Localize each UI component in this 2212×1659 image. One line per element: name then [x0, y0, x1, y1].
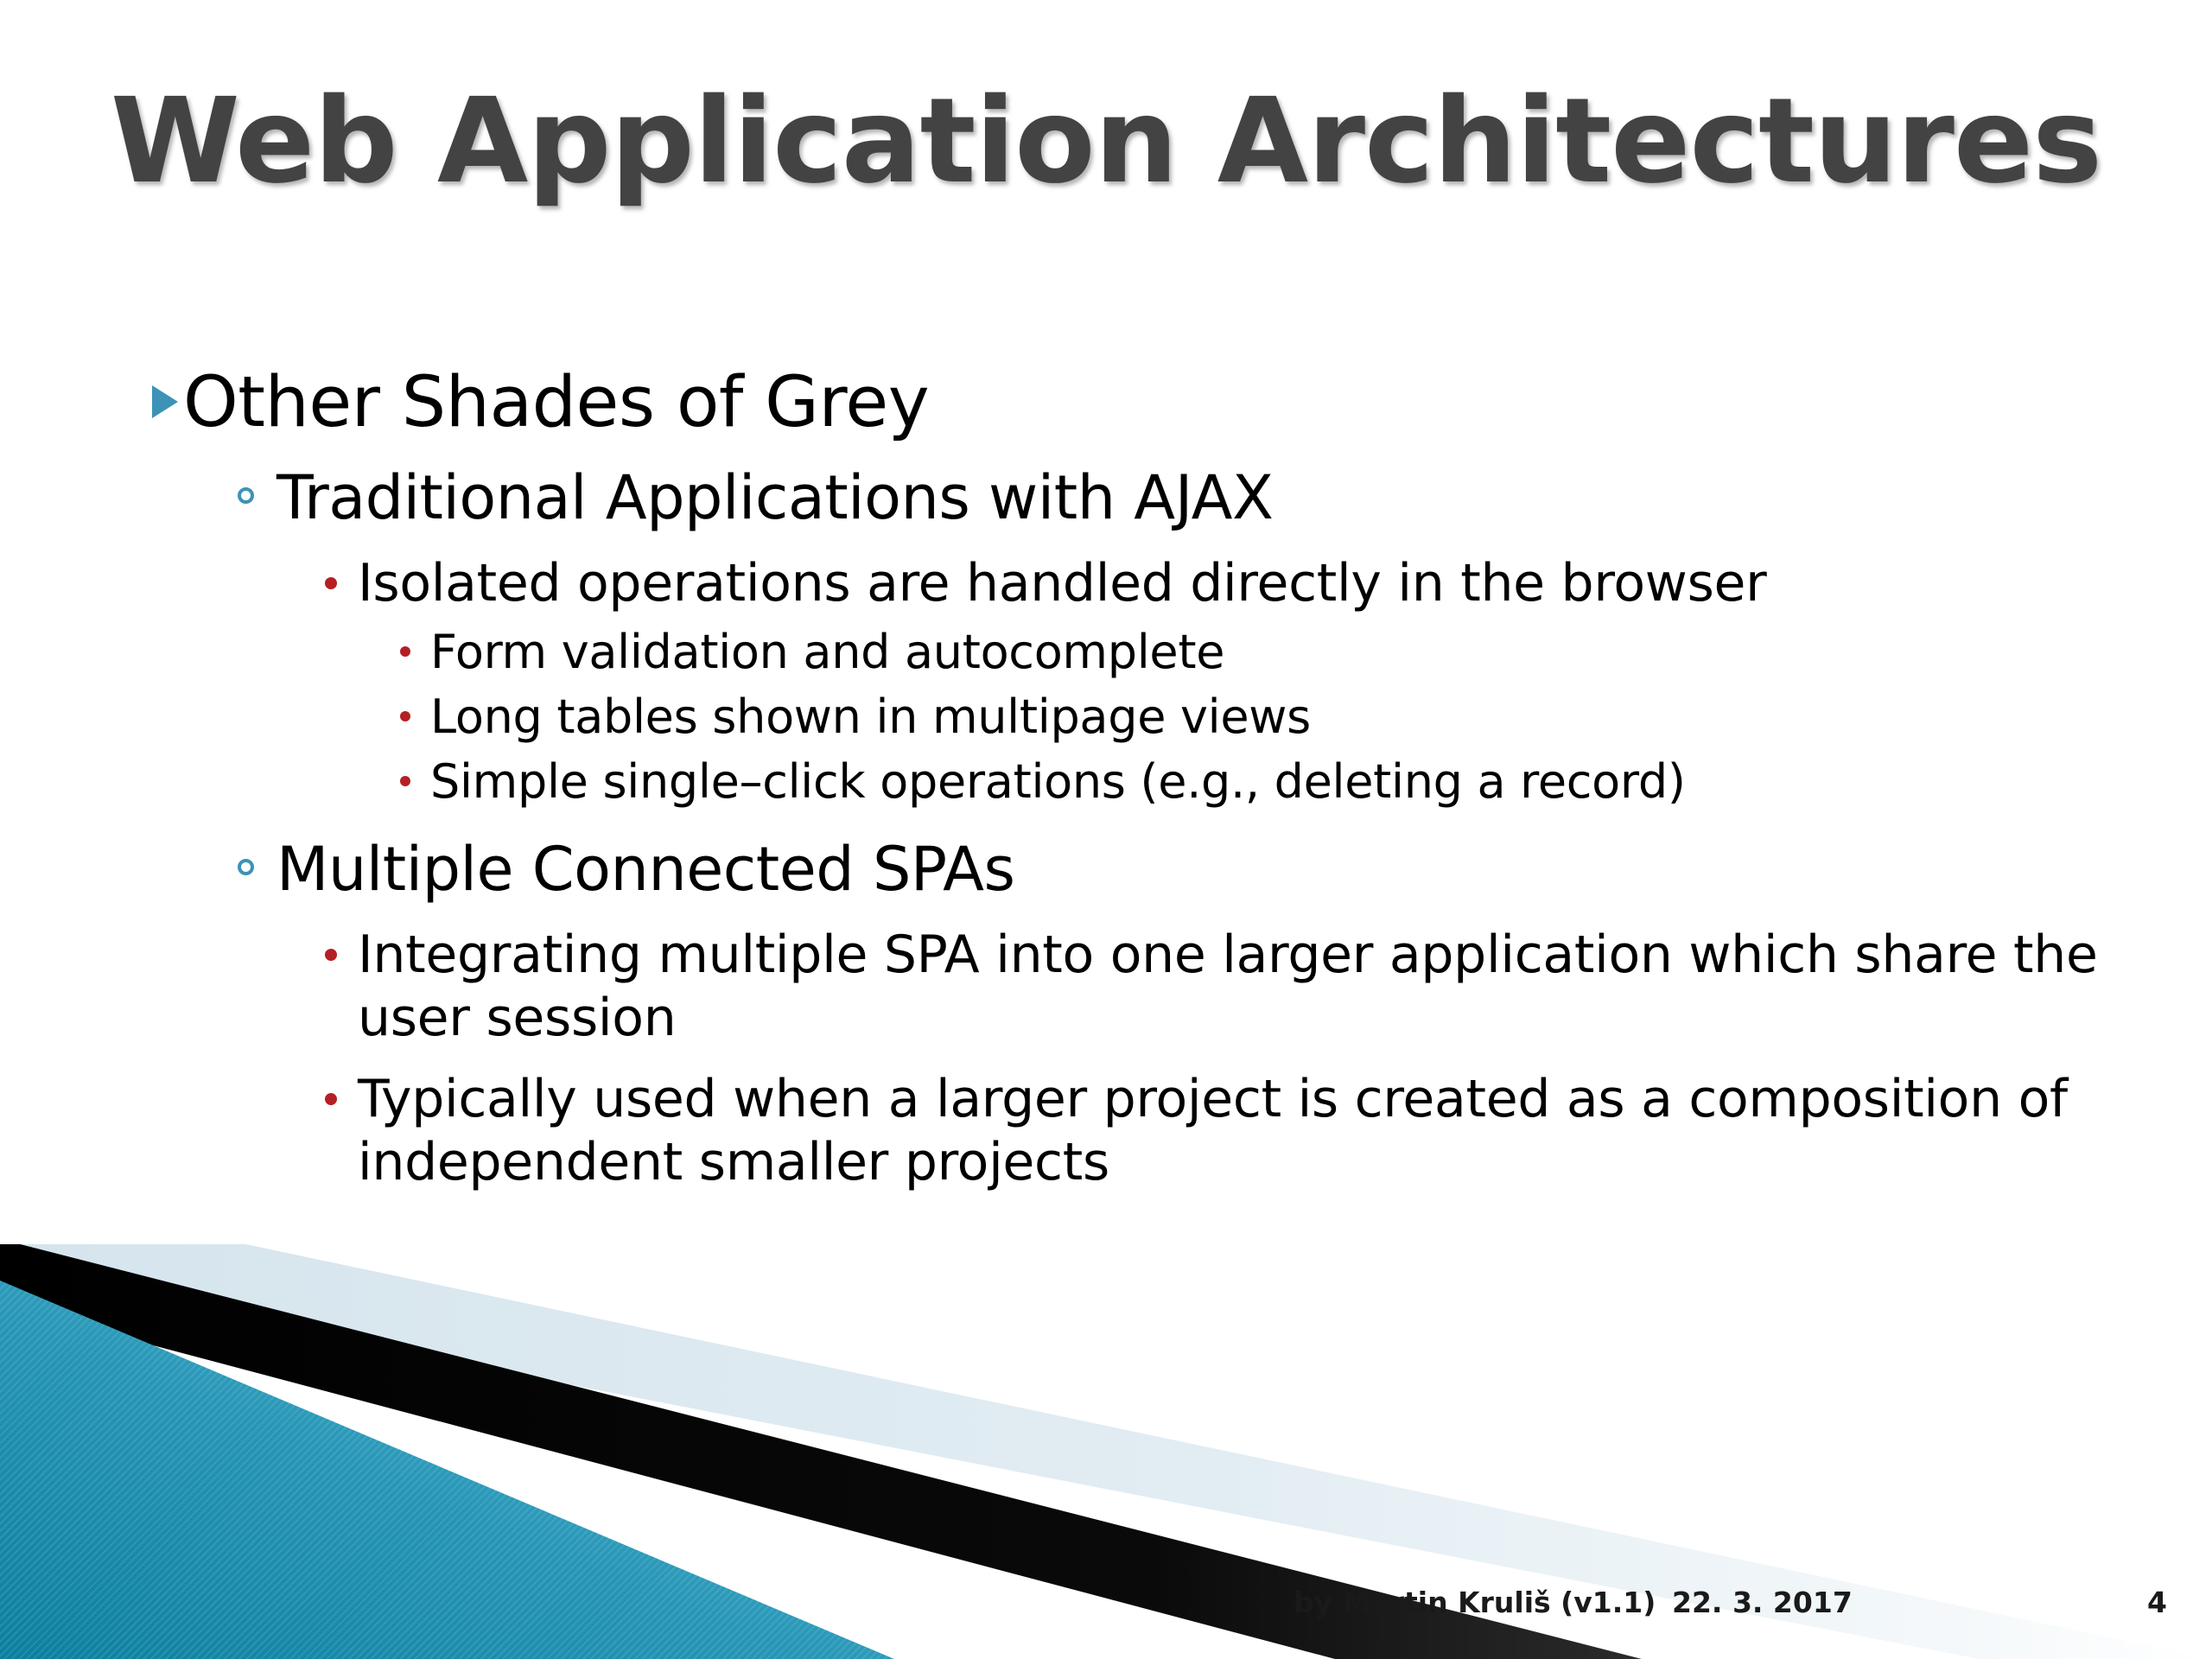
slide-footer: by Martin Kruliš (v1.1) 22. 3. 2017 4 — [0, 1583, 2212, 1635]
bullet-level2-label: Traditional Applications with AJAX — [276, 463, 2143, 533]
bullet-level4-label: Form validation and autocomplete — [430, 624, 2143, 680]
bullet-level1-label: Other Shades of Grey — [183, 363, 2143, 444]
circle-bullet-icon — [226, 859, 276, 875]
footer-author: by Martin Kruliš (v1.1) — [1294, 1588, 1656, 1617]
bullet-level4-form-validation: Form validation and autocomplete — [389, 624, 2143, 680]
circle-bullet-icon — [226, 487, 276, 504]
footer-date: 22. 3. 2017 — [1672, 1588, 1853, 1617]
bullet-level3-label: Isolated operations are handled directly… — [358, 552, 2143, 615]
dot-bullet-icon — [313, 577, 358, 589]
page-title: Web Application Architectures — [0, 83, 2212, 200]
bullet-level2-traditional-ajax: Traditional Applications with AJAX — [226, 463, 2143, 533]
slide-body: Other Shades of Grey Traditional Applica… — [130, 363, 2143, 1193]
bullet-level3-label: Integrating multiple SPA into one larger… — [358, 924, 2143, 1049]
bullet-level3-typically-used: Typically used when a larger project is … — [313, 1068, 2143, 1193]
bullet-level2-label: Multiple Connected SPAs — [276, 835, 2143, 905]
bullet-level4-label: Long tables shown in multipage views — [430, 689, 2143, 745]
bullet-level3-isolated-operations: Isolated operations are handled directly… — [313, 552, 2143, 615]
dot-bullet-icon — [389, 711, 430, 721]
triangle-bullet-icon — [130, 385, 183, 418]
bullet-level4-label: Simple single–click operations (e.g., de… — [430, 753, 2143, 810]
dot-bullet-icon — [389, 776, 430, 786]
footer-page-number: 4 — [2147, 1588, 2167, 1617]
bullet-level1-other-shades: Other Shades of Grey — [130, 363, 2143, 444]
bullet-level3-integrating-spa: Integrating multiple SPA into one larger… — [313, 924, 2143, 1049]
bullet-level2-multiple-spas: Multiple Connected SPAs — [226, 835, 2143, 905]
dot-bullet-icon — [313, 1093, 358, 1105]
bullet-level4-long-tables: Long tables shown in multipage views — [389, 689, 2143, 745]
dot-bullet-icon — [313, 949, 358, 961]
dot-bullet-icon — [389, 646, 430, 657]
slide-canvas: Web Application Architectures Other Shad… — [0, 0, 2212, 1659]
bullet-level3-label: Typically used when a larger project is … — [358, 1068, 2143, 1193]
bullet-level4-single-click: Simple single–click operations (e.g., de… — [389, 753, 2143, 810]
